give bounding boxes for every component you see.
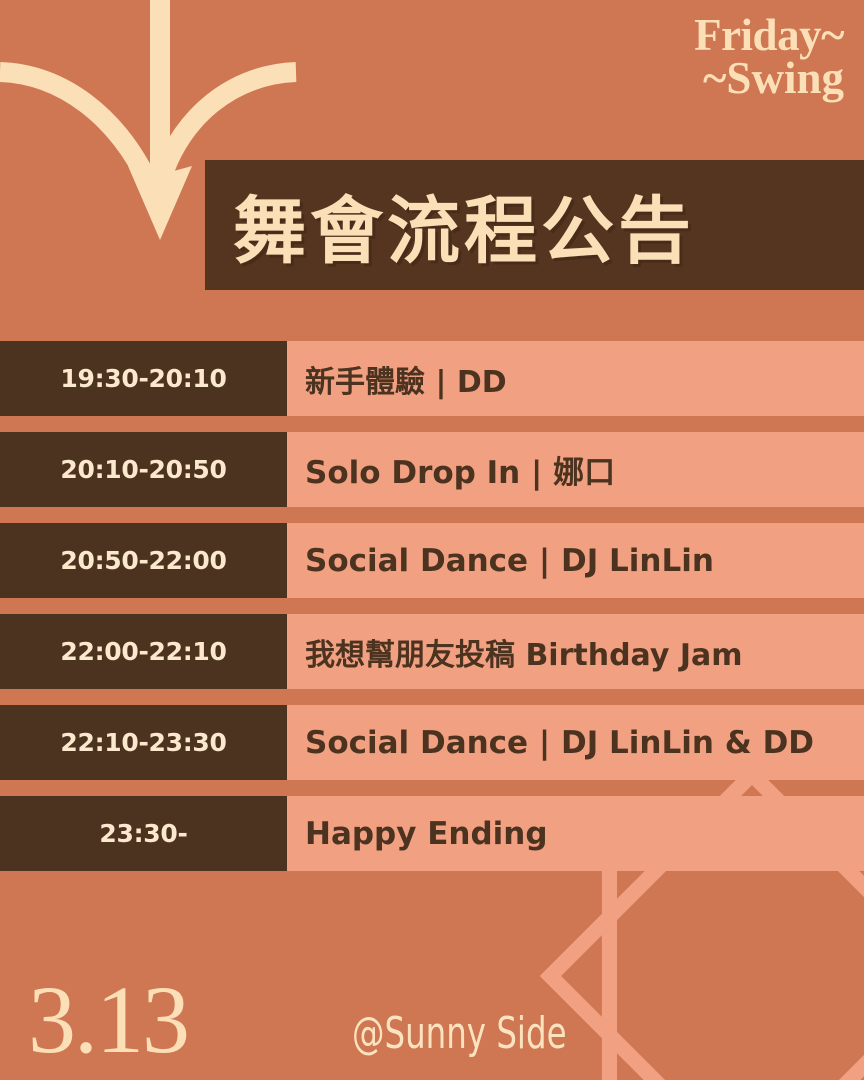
row-item: Social Dance | DJ LinLin & DD: [287, 705, 864, 780]
row-item: Solo Drop In | 娜口: [287, 432, 864, 507]
table-row: 20:50-22:00 Social Dance | DJ LinLin: [0, 523, 864, 598]
schedule-list: 19:30-20:10 新手體驗 | DD 20:10-20:50 Solo D…: [0, 341, 864, 887]
row-time: 22:10-23:30: [0, 705, 287, 780]
row-time: 20:50-22:00: [0, 523, 287, 598]
event-date: 3.13: [28, 972, 188, 1068]
page-title: 舞會流程公告: [233, 172, 695, 278]
row-time: 22:00-22:10: [0, 614, 287, 689]
row-item: Social Dance | DJ LinLin: [287, 523, 864, 598]
table-row: 22:00-22:10 我想幫朋友投稿 Birthday Jam: [0, 614, 864, 689]
poster-canvas: Friday~ ~Swing 舞會流程公告 19:30-20:10 新手體驗 |…: [0, 0, 864, 1080]
table-row: 19:30-20:10 新手體驗 | DD: [0, 341, 864, 416]
row-time: 23:30-: [0, 796, 287, 871]
event-venue: @Sunny Side: [352, 1012, 567, 1056]
row-item: 新手體驗 | DD: [287, 341, 864, 416]
title-banner: 舞會流程公告: [205, 160, 864, 290]
table-row: 23:30- Happy Ending: [0, 796, 864, 871]
row-item: Happy Ending: [287, 796, 864, 871]
logo-line-2: ~Swing: [694, 57, 844, 100]
row-item: 我想幫朋友投稿 Birthday Jam: [287, 614, 864, 689]
row-time: 20:10-20:50: [0, 432, 287, 507]
brand-logo: Friday~ ~Swing: [694, 14, 844, 100]
footer: 3.13 @Sunny Side: [0, 880, 864, 1080]
table-row: 22:10-23:30 Social Dance | DJ LinLin & D…: [0, 705, 864, 780]
row-time: 19:30-20:10: [0, 341, 287, 416]
table-row: 20:10-20:50 Solo Drop In | 娜口: [0, 432, 864, 507]
